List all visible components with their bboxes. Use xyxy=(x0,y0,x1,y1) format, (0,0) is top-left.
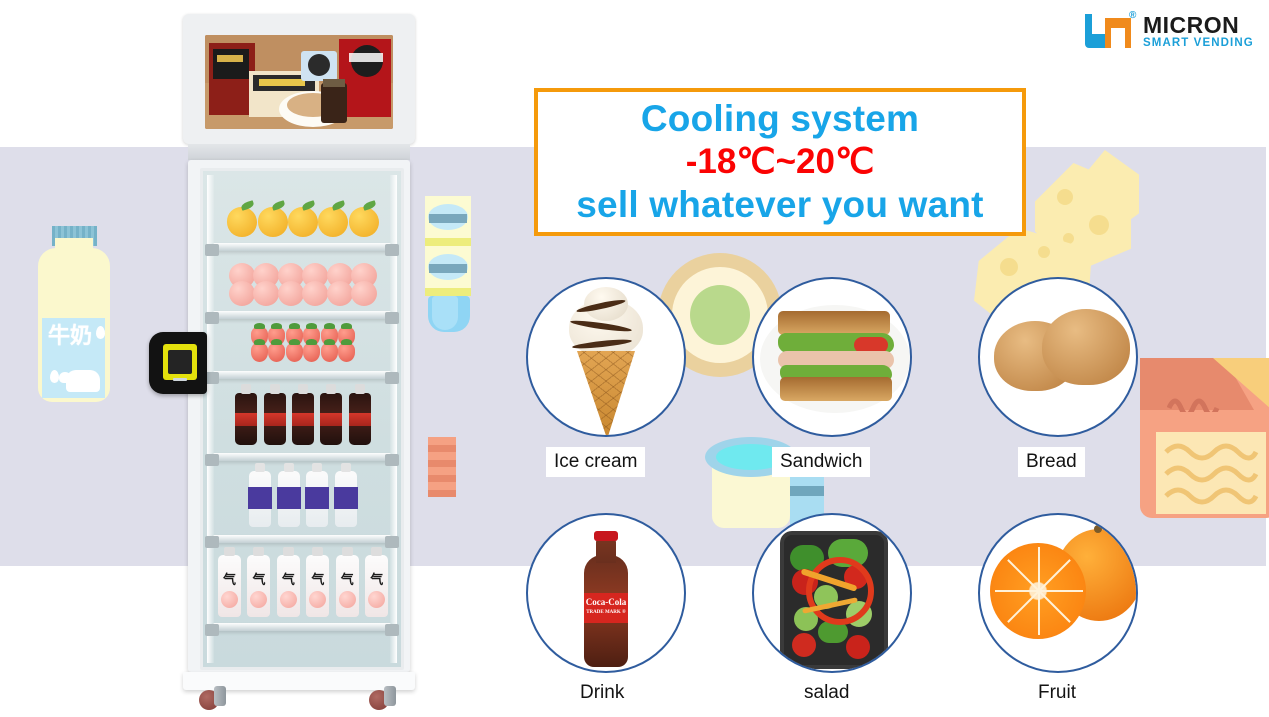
shelf-goods-peaches xyxy=(217,281,389,311)
orange-segment xyxy=(1038,547,1040,591)
orange-segment xyxy=(1007,559,1040,592)
orange-icon xyxy=(288,207,318,237)
sparkling-water-bottle-icon: 气 xyxy=(365,555,388,617)
orange-icon xyxy=(318,207,348,237)
trademark-text: TRADE MARK ® xyxy=(584,608,628,616)
peach-graphic xyxy=(368,591,385,608)
product-label-bread: Bread xyxy=(1018,447,1085,477)
red-pepper-ring xyxy=(806,557,874,625)
cola-bottle-icon xyxy=(320,393,342,445)
juice-carton-label xyxy=(1156,432,1266,514)
banner-line-3: sell whatever you want xyxy=(576,183,983,227)
orange-segment xyxy=(1038,590,1071,623)
micron-logo[interactable]: ® MICRON SMART VENDING xyxy=(1085,8,1261,54)
slide-canvas: 牛奶 xyxy=(0,0,1269,717)
peach-graphic xyxy=(309,591,326,608)
strawberry-icon xyxy=(303,343,320,362)
bottle-label-cn: 气 xyxy=(336,569,359,588)
bread-roll-icon xyxy=(1042,309,1130,385)
cheese-hole xyxy=(1089,215,1109,235)
sparkling-water-bottle-icon: 气 xyxy=(218,555,241,617)
blue-cup-illustration xyxy=(428,296,470,332)
bottle-label-cn: 气 xyxy=(277,569,300,588)
shelf-goods-strawberries xyxy=(217,343,389,367)
tomato-icon xyxy=(846,635,870,659)
cola-bottle-icon xyxy=(349,393,371,445)
brand-text: Coca-Cola xyxy=(584,593,628,608)
shelf-rail xyxy=(213,371,391,379)
cola-bottle-icon xyxy=(264,393,286,445)
cola-bottle-icon xyxy=(292,393,314,445)
product-label-drink: Drink xyxy=(572,678,632,708)
sparkling-water-bottle-icon: 气 xyxy=(336,555,359,617)
shelf-goods-cola xyxy=(217,393,389,450)
sparkling-water-bottle-icon: 气 xyxy=(306,555,329,617)
milk-drop-icon xyxy=(96,326,105,339)
waffle-cone xyxy=(577,351,635,437)
milk-drop-icon xyxy=(50,370,59,383)
milk-bottle-label-text: 牛奶 xyxy=(48,326,100,348)
tomato-icon xyxy=(792,633,816,657)
orange-segment xyxy=(1038,591,1040,635)
shelf-rail xyxy=(213,453,391,461)
strawberry-icon xyxy=(286,343,303,362)
vending-machine-top-cabinet xyxy=(183,14,415,144)
milk-bottle-icon xyxy=(249,471,271,527)
qr-scanner-module[interactable] xyxy=(149,332,207,394)
orange-segment xyxy=(1007,590,1040,623)
banner-line-1: Cooling system xyxy=(641,97,919,141)
striped-bar-illustration xyxy=(428,437,456,497)
peach-icon xyxy=(327,281,353,306)
orange-icon xyxy=(258,207,288,237)
yogurt-divider xyxy=(425,288,471,296)
orange-icon xyxy=(349,207,379,237)
bread-slice-top xyxy=(778,311,890,335)
yogurt-band xyxy=(429,214,467,223)
bottle-label-cn: 气 xyxy=(218,569,241,588)
caster-wheel xyxy=(199,686,229,712)
wavy-lines-icon xyxy=(1156,432,1266,514)
orange-icon xyxy=(227,207,257,237)
headline-banner: Cooling system -18℃~20℃ sell whatever yo… xyxy=(534,88,1026,236)
advertising-screen[interactable] xyxy=(205,35,393,129)
brand-name: MICRON xyxy=(1143,12,1239,39)
orange-segment xyxy=(1039,590,1083,592)
scanner-window xyxy=(163,344,197,380)
product-circle-fruit[interactable] xyxy=(978,513,1138,673)
product-circle-drink[interactable]: Coca-Cola TRADE MARK ® xyxy=(526,513,686,673)
peach-graphic xyxy=(280,591,297,608)
shelf-rail xyxy=(213,311,391,319)
shelf-goods-milk xyxy=(217,471,389,532)
logo-mark-icon xyxy=(1085,14,1131,48)
milk-bottle-icon xyxy=(306,471,328,527)
vending-machine-cabinet: 气 气 气 气 气 气 xyxy=(188,160,410,672)
yogurt-band xyxy=(429,264,467,273)
coca-cola-bottle-icon: Coca-Cola TRADE MARK ® xyxy=(580,531,632,667)
sparkling-water-bottle-icon: 气 xyxy=(247,555,270,617)
peach-graphic xyxy=(221,591,238,608)
cola-bottle-icon xyxy=(235,393,257,445)
vending-machine-neck xyxy=(188,144,410,160)
bottle-cap xyxy=(594,531,618,541)
product-circle-ice-cream[interactable] xyxy=(526,277,686,437)
ring-inner-decoration xyxy=(690,285,750,345)
strawberry-icon xyxy=(268,343,285,362)
sparkling-water-bottle-icon: 气 xyxy=(277,555,300,617)
peach-icon xyxy=(278,281,304,306)
vending-machine[interactable]: 气 气 气 气 气 气 xyxy=(183,14,423,694)
product-label-fruit: Fruit xyxy=(1030,678,1084,708)
peach-icon xyxy=(229,281,255,306)
product-label-sandwich: Sandwich xyxy=(772,447,870,477)
strawberry-icon xyxy=(251,343,268,362)
bottle-label-cn: 气 xyxy=(247,569,270,588)
orange-segment xyxy=(1038,559,1071,592)
yogurt-cup-illustration xyxy=(425,196,471,238)
cheese-hole xyxy=(1000,258,1018,276)
bottle-label-cn: 气 xyxy=(306,569,329,588)
peach-icon xyxy=(351,281,377,306)
logo-orange-notch xyxy=(1111,28,1125,48)
scanner-indicator xyxy=(173,378,187,381)
product-circle-bread[interactable] xyxy=(978,277,1138,437)
yogurt-divider xyxy=(425,238,471,246)
product-label-salad: salad xyxy=(796,678,857,708)
banner-line-2: -18℃~20℃ xyxy=(686,141,875,183)
blue-cup-highlight xyxy=(432,296,458,330)
juice-carton-logo xyxy=(1167,390,1221,412)
peach-icon xyxy=(253,281,279,306)
product-circle-sandwich[interactable] xyxy=(752,277,912,437)
cheese-hole xyxy=(1038,246,1050,258)
caster-wheel xyxy=(369,686,399,712)
bottle-label-cn: 气 xyxy=(365,569,388,588)
peach-graphic xyxy=(339,591,356,608)
brand-tagline: SMART VENDING xyxy=(1143,37,1254,49)
shelf-rail xyxy=(213,535,391,543)
milk-bottle-icon xyxy=(278,471,300,527)
cheese-hole xyxy=(1057,189,1073,205)
wheel-bracket xyxy=(214,686,226,706)
strawberry-icon xyxy=(338,343,355,362)
yogurt-cup-illustration xyxy=(425,246,471,288)
scanner-lens xyxy=(168,350,192,374)
orange-segment xyxy=(995,590,1039,592)
peach-graphic xyxy=(250,591,267,608)
salad-container xyxy=(780,531,888,669)
shelf-rail xyxy=(213,243,391,251)
milk-bottle-icon xyxy=(335,471,357,527)
product-label-ice-cream: Ice cream xyxy=(546,447,645,477)
wheel-bracket xyxy=(384,686,396,706)
glass-door[interactable]: 气 气 气 气 气 气 xyxy=(200,168,404,670)
registered-trademark-icon: ® xyxy=(1129,10,1136,21)
icecream-cup-band xyxy=(790,486,824,496)
shelf-goods-sparkling-water: 气 气 气 气 气 气 xyxy=(217,555,389,622)
peach-icon xyxy=(302,281,328,306)
shelf-rail xyxy=(213,623,391,631)
shelf-goods-oranges xyxy=(217,207,389,242)
bottle-label: Coca-Cola TRADE MARK ® xyxy=(584,593,628,623)
waffle-texture xyxy=(577,351,635,437)
strawberry-icon xyxy=(321,343,338,362)
orange-half-icon xyxy=(990,543,1086,639)
cow-icon xyxy=(66,370,100,392)
bread-slice-bottom xyxy=(780,377,892,401)
product-circle-salad[interactable] xyxy=(752,513,912,673)
